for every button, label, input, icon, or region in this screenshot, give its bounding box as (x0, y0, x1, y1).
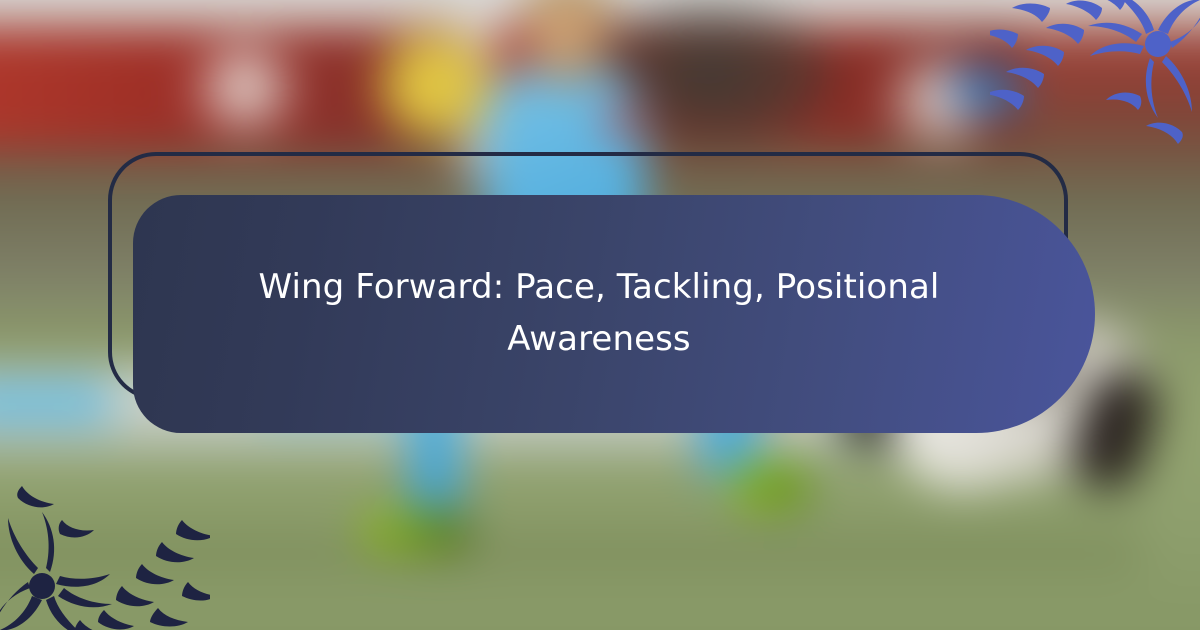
page-title: Wing Forward: Pace, Tackling, Positional… (249, 262, 949, 365)
pitch-blue-sign (950, 70, 1020, 110)
banner-card: Wing Forward: Pace, Tackling, Positional… (133, 195, 1095, 433)
banner-stage: Wing Forward: Pace, Tackling, Positional… (0, 0, 1200, 630)
pitch-board-blue-left (0, 380, 110, 425)
crowd-white-blob-left (190, 40, 300, 135)
grass-shadow (0, 500, 1140, 570)
crowd-yellow-blob (370, 30, 500, 140)
player-kit-badge (608, 108, 636, 134)
